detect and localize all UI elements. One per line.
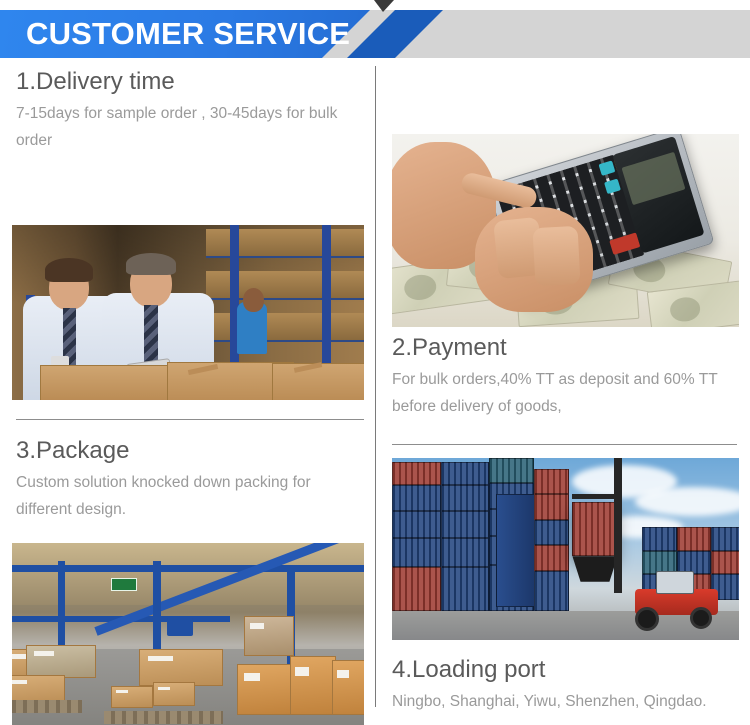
section-1-text: 7-15days for sample order , 30-45days fo…	[16, 100, 364, 154]
content-area: 1.Delivery time 7-15days for sample orde…	[0, 62, 750, 725]
port-ground	[392, 611, 739, 640]
container	[534, 469, 569, 494]
section-2-title: 2.Payment	[392, 334, 742, 362]
container	[441, 511, 490, 538]
packing-warehouse-photo	[12, 543, 364, 725]
section-4-title: 4.Loading port	[392, 656, 742, 684]
section-4-text: Ningbo, Shanghai, Yiwu, Shenzhen, Qingda…	[392, 688, 740, 715]
carton	[272, 363, 364, 400]
container-lifted	[572, 502, 617, 557]
container-port-photo	[392, 458, 739, 640]
container	[392, 485, 441, 510]
page-title: CUSTOMER SERVICE	[26, 10, 350, 58]
container	[642, 527, 677, 551]
person-hair	[126, 253, 176, 275]
container	[441, 485, 490, 510]
right-section-divider	[392, 444, 737, 445]
carton	[237, 664, 293, 715]
container	[677, 527, 712, 551]
background-worker-head	[243, 288, 264, 312]
container	[489, 458, 534, 483]
pallet	[12, 700, 82, 713]
spreader-bar	[572, 494, 621, 499]
carton	[290, 656, 336, 715]
stacker-wheel	[635, 607, 659, 631]
stacker-mast	[614, 458, 622, 593]
person-hair	[45, 258, 93, 282]
carton	[332, 660, 364, 715]
exit-sign	[111, 578, 137, 591]
container-side-wall	[496, 494, 538, 607]
conveyor-post	[153, 561, 161, 662]
carton	[139, 649, 223, 686]
section-2-text: For bulk orders,40% TT as deposit and 60…	[392, 366, 740, 420]
carton	[244, 616, 293, 656]
section-1-title: 1.Delivery time	[16, 68, 366, 96]
column-divider	[375, 66, 376, 707]
section-loading-port: 4.Loading port Ningbo, Shanghai, Yiwu, S…	[392, 656, 742, 715]
container	[441, 538, 490, 567]
section-delivery-time: 1.Delivery time 7-15days for sample orde…	[16, 68, 366, 154]
container	[711, 527, 739, 551]
container	[534, 494, 569, 519]
container	[392, 511, 441, 538]
carton-wrapped	[26, 645, 96, 678]
finger	[533, 225, 581, 285]
section-package: 3.Package Custom solution knocked down p…	[16, 437, 366, 523]
page-banner: CUSTOMER SERVICE	[0, 0, 750, 62]
container	[392, 538, 441, 567]
container	[534, 571, 569, 611]
container	[392, 567, 441, 611]
container	[711, 551, 739, 575]
carton	[111, 686, 153, 708]
container	[534, 545, 569, 570]
calculator-money-photo	[392, 134, 739, 327]
carton	[40, 365, 181, 400]
conveyor-beam	[12, 565, 364, 572]
container	[392, 462, 441, 486]
warehouse-staff-photo	[12, 225, 364, 400]
container	[441, 567, 490, 611]
section-3-text: Custom solution knocked down packing for…	[16, 469, 364, 523]
carton	[153, 682, 195, 706]
left-section-divider	[16, 419, 364, 420]
customer-service-page: CUSTOMER SERVICE 1.Delivery time 7-15day…	[0, 0, 750, 725]
conveyor-motor	[167, 618, 193, 636]
pallet	[104, 711, 224, 724]
rack-post	[322, 225, 331, 376]
section-payment: 2.Payment For bulk orders,40% TT as depo…	[392, 334, 742, 420]
container	[534, 520, 569, 545]
container	[441, 462, 490, 486]
section-3-title: 3.Package	[16, 437, 366, 465]
reach-stacker-cab	[656, 571, 694, 595]
conveyor-post	[58, 561, 65, 649]
